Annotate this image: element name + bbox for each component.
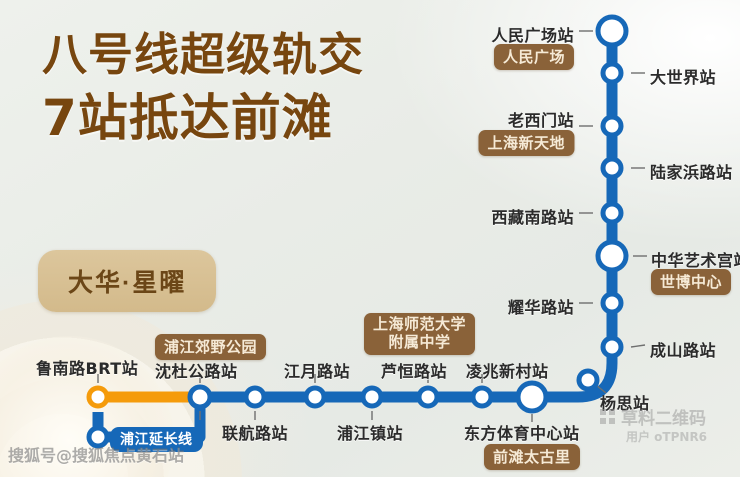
station-dot-dongfang-tiyu[interactable] xyxy=(518,383,546,411)
tag-shnu-line-2: 附属中学 xyxy=(389,333,451,351)
tag-jiaoye-park: 浦江郊野公园 xyxy=(155,334,266,360)
station-label-dashijie: 大世界站 xyxy=(650,64,716,88)
station-label-chengshan-lu: 成山路站 xyxy=(650,337,716,361)
station-dots-vertical xyxy=(579,17,626,389)
headline-line-1: 八号线超级轨交 xyxy=(42,32,364,77)
station-dot-lingzhao-xincun[interactable] xyxy=(473,388,491,406)
station-dot-yangsi[interactable] xyxy=(579,371,597,389)
station-label-zhonghua-yishugong: 中华艺术宫站 xyxy=(651,247,740,271)
poster-root: 八号线超级轨交 7站抵达前滩 大华·星曜 xyxy=(0,0,740,477)
station-label-lunan-brt: 鲁南路BRT站 xyxy=(36,355,138,379)
station-label-luheng-lu: 芦恒路站 xyxy=(381,358,447,382)
station-dot-xizang-nanlu[interactable] xyxy=(603,204,621,222)
station-dot-yaohua-lu[interactable] xyxy=(603,294,621,312)
headline-block: 八号线超级轨交 7站抵达前滩 xyxy=(42,32,364,143)
tag-expo-center: 世博中心 xyxy=(651,269,731,295)
watermark-caoliao: 草料二维码 xyxy=(600,404,706,429)
station-dot-zhonghua-yishugong[interactable] xyxy=(598,242,626,270)
station-label-renmin-guangchang: 人民广场站 xyxy=(491,22,574,46)
station-label-xizang-nanlu: 西藏南路站 xyxy=(491,204,574,228)
station-label-laoximen: 老西门站 xyxy=(508,107,574,131)
headline-line-2: 7站抵达前滩 xyxy=(42,93,364,143)
station-dot-luheng-lu[interactable] xyxy=(419,388,437,406)
tag-shnu-line-1: 上海师范大学 xyxy=(373,315,466,333)
tag-qiantan-taikooli: 前滩太古里 xyxy=(484,444,580,470)
station-dot-lianhang-lu[interactable] xyxy=(246,388,264,406)
watermark-sohu: 搜狐号@搜狐焦点黄石站 xyxy=(8,442,184,466)
station-label-pujiang-zhen: 浦江镇站 xyxy=(337,420,403,444)
station-label-jiangyue-lu: 江月路站 xyxy=(284,358,350,382)
qr-code-icon xyxy=(600,409,615,424)
tag-xintiandi: 上海新天地 xyxy=(478,130,574,156)
station-dot-shendu-gonglu[interactable] xyxy=(190,387,210,407)
station-label-dongfang-tiyu: 东方体育中心站 xyxy=(464,420,580,444)
station-label-lujiabang: 陆家浜路站 xyxy=(650,159,733,183)
station-dot-chengshan-lu[interactable] xyxy=(603,338,621,356)
station-dot-lujiabang[interactable] xyxy=(603,159,621,177)
watermark-user: 用户 oTPNR6 xyxy=(626,428,707,445)
station-dot-lunan-brt[interactable] xyxy=(89,388,107,406)
station-label-lingzhao-xincun: 凌兆新村站 xyxy=(466,358,549,382)
station-dot-renmin-guangchang[interactable] xyxy=(598,17,626,45)
station-label-lianhang-lu: 联航路站 xyxy=(222,420,288,444)
station-dot-dashijie[interactable] xyxy=(603,64,621,82)
watermark-caoliao-text: 草料二维码 xyxy=(621,404,706,429)
estate-badge: 大华·星曜 xyxy=(38,250,216,312)
station-dot-laoximen[interactable] xyxy=(603,117,621,135)
station-dot-jiangyue-lu[interactable] xyxy=(306,388,324,406)
tag-renmin-square: 人民广场 xyxy=(494,44,574,70)
station-label-yaohua-lu: 耀华路站 xyxy=(508,294,574,318)
station-label-shendu-gonglu: 沈杜公路站 xyxy=(155,358,238,382)
tag-shnu-affiliated-school: 上海师范大学 附属中学 xyxy=(364,313,475,355)
station-dot-pujiang-zhen[interactable] xyxy=(363,388,381,406)
